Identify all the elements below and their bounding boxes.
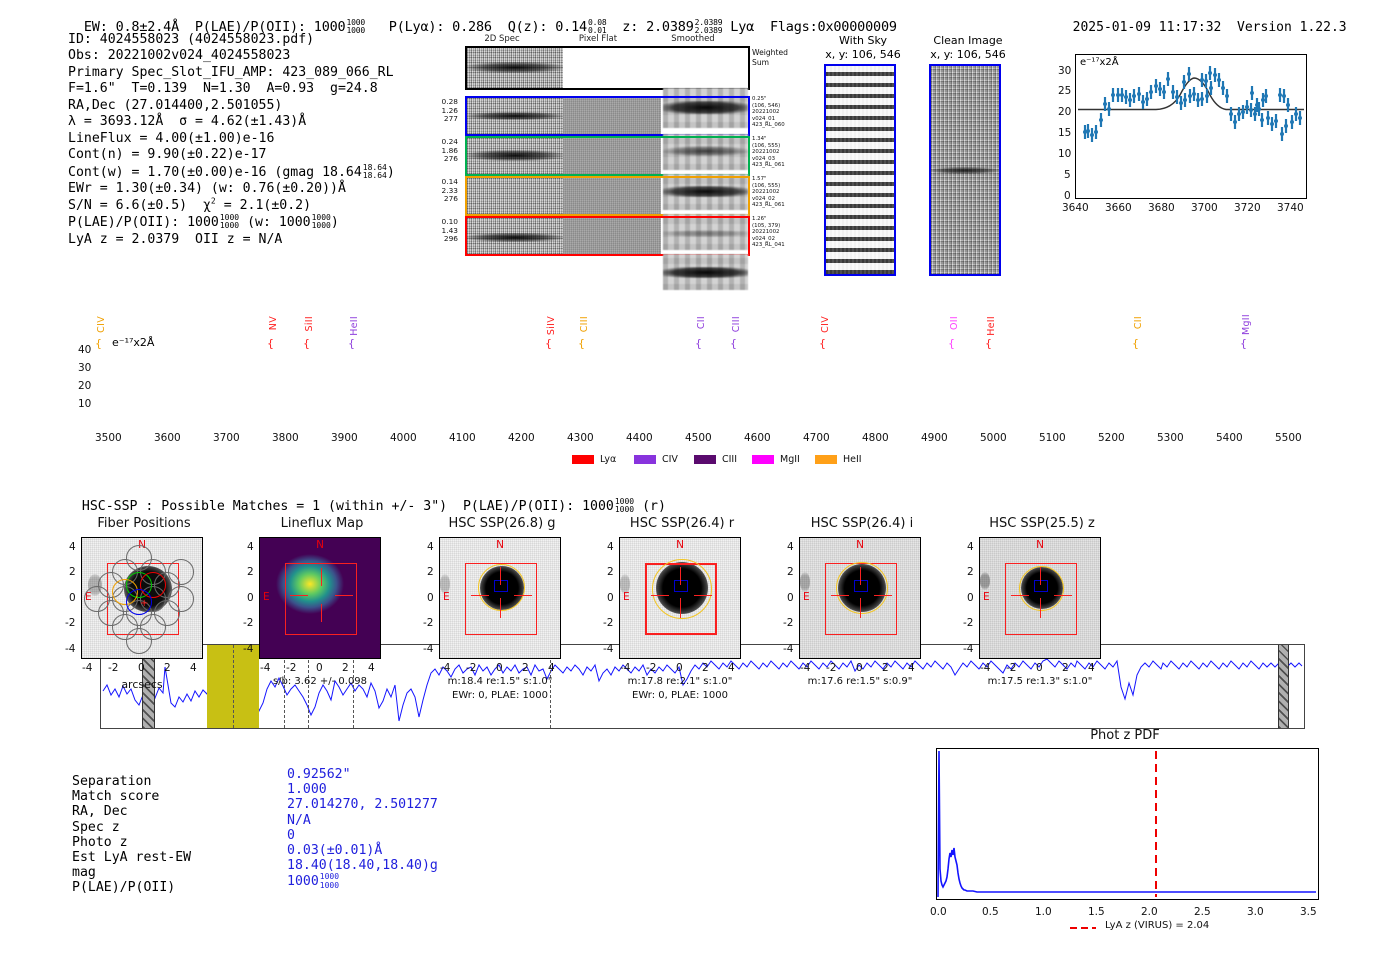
full-spectrum-panel: CIV { NV { SiII { HeII { SiIV { CIII { C… bbox=[0, 300, 1400, 480]
x-tick: 2 bbox=[702, 662, 709, 674]
y-tick: 5 bbox=[1064, 169, 1071, 181]
emission-label-heii-2: HeII bbox=[986, 316, 997, 336]
info-obs: Obs: 20221002v024_4024558023 bbox=[68, 48, 395, 64]
match-table-labels: Separation Match score RA, Dec Spec z Ph… bbox=[72, 774, 191, 896]
compass-e: E bbox=[443, 591, 450, 603]
y-tick: 2 bbox=[607, 566, 614, 578]
info-plae: P(LAE)/P(OII): 100010001000 (w: 10001000… bbox=[68, 214, 395, 232]
cutout-panel-fiber-positions: Fiber Positions N E + 4 2 0 -2 -4 -4 -2 … bbox=[60, 516, 250, 716]
x-tick: -2 bbox=[1006, 662, 1016, 674]
info-radec: RA,Dec (27.014400,2.501055) bbox=[68, 98, 395, 114]
x-tick: -2 bbox=[286, 662, 296, 674]
x-tick: 0 bbox=[316, 662, 323, 674]
legend-swatch-civ bbox=[634, 455, 656, 464]
y-tick: 4 bbox=[69, 541, 76, 553]
emission-label-ciii: CIII bbox=[579, 316, 590, 332]
emission-label-mgii: MgII bbox=[1241, 314, 1252, 335]
exposure-row-left-labels: 0.101.43296 bbox=[428, 218, 458, 244]
emission-bracket: { bbox=[1132, 337, 1139, 350]
row-value: 18.40(18.40,18.40)g bbox=[287, 858, 438, 873]
panel-title: HSC SSP(26.4) r bbox=[598, 516, 766, 531]
y-tick: -4 bbox=[963, 643, 973, 655]
y-tick: -4 bbox=[603, 643, 613, 655]
row-label: Separation bbox=[72, 774, 191, 789]
x-tick: -2 bbox=[646, 662, 656, 674]
x-tick: 2 bbox=[164, 662, 171, 674]
x-tick: 3500 bbox=[95, 432, 122, 444]
exposure-row bbox=[465, 96, 750, 136]
cutout-image: N E bbox=[439, 537, 561, 659]
x-tick: 5100 bbox=[1039, 432, 1066, 444]
emission-bracket: { bbox=[948, 337, 955, 350]
header-z-suffix: Lyα bbox=[730, 19, 754, 35]
y-tick: 4 bbox=[247, 541, 254, 553]
emission-bracket: { bbox=[267, 337, 274, 350]
panel-caption-2: EWr: 0, PLAE: 1000 bbox=[418, 690, 582, 701]
y-tick: 2 bbox=[787, 566, 794, 578]
with-sky-coords: x, y: 106, 546 bbox=[822, 48, 904, 61]
info-seeing-params: F=1.6" T=0.139 N=1.30 A=0.93 g=24.8 bbox=[68, 81, 395, 97]
timestamp: 2025-01-09 11:17:32 bbox=[1073, 20, 1222, 35]
x-tick: 0.0 bbox=[930, 906, 947, 918]
row-value: 0.03(±0.01)Å bbox=[287, 843, 438, 858]
row-label: P(LAE)/P(OII) bbox=[72, 880, 191, 895]
x-tick: 3740 bbox=[1277, 202, 1304, 214]
exposure-row-left-labels: 0.281.26277 bbox=[428, 98, 458, 124]
detection-info-block: ID: 4024558023 (4024558023.pdf) Obs: 202… bbox=[68, 32, 395, 248]
x-tick: -4 bbox=[620, 662, 630, 674]
legend-swatch-lya bbox=[572, 455, 594, 464]
y-tick: 0 bbox=[607, 592, 614, 604]
compass-n: N bbox=[800, 539, 920, 551]
x-tick: -4 bbox=[440, 662, 450, 674]
x-tick: 2 bbox=[342, 662, 349, 674]
info-lya-oii-z: LyA z = 2.0379 OII z = N/A bbox=[68, 232, 395, 248]
info-snr-chi2: S/N = 6.6(±0.5) χ2 = 2.1(±0.2) bbox=[68, 198, 395, 214]
match-table-values: 0.92562" 1.000 27.014270, 2.501277 N/A 0… bbox=[287, 767, 438, 890]
row-label: Est LyA rest-EW bbox=[72, 850, 191, 865]
info-wavelength-sigma: λ = 3693.12Å σ = 4.62(±1.43)Å bbox=[68, 114, 395, 130]
x-tick: 3720 bbox=[1234, 202, 1261, 214]
y-tick: 4 bbox=[427, 541, 434, 553]
emission-label-heii: HeII bbox=[349, 316, 360, 336]
x-tick: -4 bbox=[260, 662, 270, 674]
row-value: 0 bbox=[287, 828, 438, 843]
row-label: mag bbox=[72, 865, 191, 880]
exposure-row-right-labels: 1.34"(106, 555)20221002v024_03423_RL_061 bbox=[752, 136, 802, 169]
panel-title: Fiber Positions bbox=[60, 516, 228, 531]
x-tick: 2.0 bbox=[1141, 906, 1158, 918]
header-summary-line: EW: 0.8±2.4Å P(LAE)/P(OII): 100010001000… bbox=[68, 3, 897, 35]
x-tick: 2 bbox=[522, 662, 529, 674]
info-cont-n: Cont(n) = 9.90(±0.22)e-17 bbox=[68, 147, 395, 163]
info-primary-spec-slot: Primary Spec_Slot_IFU_AMP: 423_089_066_R… bbox=[68, 65, 395, 81]
crosshair-v-bot bbox=[321, 604, 322, 622]
legend-label-mgii: MgII bbox=[780, 454, 800, 465]
exposure-row-right-labels: 0.25"(106, 546)20221002v024_01423_RL_060 bbox=[752, 96, 802, 129]
emission-label-civ: CIV bbox=[96, 316, 107, 333]
row-value: 0.92562" bbox=[287, 767, 438, 782]
crosshair-v-top bbox=[321, 568, 322, 586]
compass-n: N bbox=[620, 539, 740, 551]
exposure-row-left-labels: 0.241.86276 bbox=[428, 138, 458, 164]
y-tick: -4 bbox=[243, 643, 253, 655]
emission-bracket: { bbox=[348, 337, 355, 350]
legend-label-heii: HeII bbox=[843, 454, 862, 465]
photz-axes bbox=[936, 748, 1319, 900]
y-tick: -2 bbox=[243, 617, 253, 629]
x-tick: 3700 bbox=[1191, 202, 1218, 214]
x-tick: 0 bbox=[138, 662, 145, 674]
x-tick: 2 bbox=[1062, 662, 1069, 674]
y-tick: -4 bbox=[423, 643, 433, 655]
y-tick: 2 bbox=[247, 566, 254, 578]
x-axis-label: arcsecs bbox=[81, 678, 203, 691]
x-tick: 4 bbox=[190, 662, 197, 674]
y-tick: 0 bbox=[967, 592, 974, 604]
spectrum-units: e⁻¹⁷x2Å bbox=[112, 336, 154, 349]
weighted-sum-label: Weighted Sum bbox=[752, 48, 788, 67]
x-tick: 0 bbox=[496, 662, 503, 674]
info-lineflux: LineFlux = 4.00(±1.00)e-16 bbox=[68, 131, 395, 147]
legend-label-ciii: CIII bbox=[722, 454, 737, 465]
exposure-row-left-labels: 0.142.33276 bbox=[428, 178, 458, 204]
y-tick: -2 bbox=[423, 617, 433, 629]
crosshair-h-left bbox=[290, 595, 308, 596]
emission-bracket: { bbox=[819, 337, 826, 350]
header-plya: P(Lyα): 0.286 bbox=[389, 19, 492, 35]
header-qz-frac: 0.080.01 bbox=[588, 19, 606, 35]
compass-n: N bbox=[260, 539, 380, 551]
y-tick: 0 bbox=[247, 592, 254, 604]
y-tick: 20 bbox=[1058, 106, 1071, 118]
x-tick: 3660 bbox=[1105, 202, 1132, 214]
cutout-image: N E bbox=[979, 537, 1101, 659]
emission-label-siii: SiII bbox=[304, 316, 315, 331]
weighted-2dspec-cell bbox=[467, 48, 563, 88]
version: Version 1.22.3 bbox=[1237, 20, 1347, 35]
x-tick: -2 bbox=[826, 662, 836, 674]
compass-e: E bbox=[263, 591, 270, 603]
emission-bracket: { bbox=[730, 337, 737, 350]
x-tick: 3600 bbox=[154, 432, 181, 444]
x-tick: 5500 bbox=[1275, 432, 1302, 444]
with-sky-image bbox=[824, 64, 896, 276]
emission-label-ciii-2: CIII bbox=[731, 316, 742, 332]
exposure-row-right-labels: 1.26"(105, 379)20221002v024_02423_RL_041 bbox=[752, 216, 802, 249]
x-tick: 0 bbox=[1036, 662, 1043, 674]
x-tick: 4000 bbox=[390, 432, 417, 444]
y-tick: 10 bbox=[1058, 148, 1071, 160]
x-tick: 4100 bbox=[449, 432, 476, 444]
row-value: N/A bbox=[287, 813, 438, 828]
panel-title: HSC SSP(26.8) g bbox=[418, 516, 586, 531]
x-tick: 3.5 bbox=[1300, 906, 1317, 918]
x-tick: 4800 bbox=[862, 432, 889, 444]
compass-e: E bbox=[803, 591, 810, 603]
y-tick: 30 bbox=[1058, 65, 1071, 77]
header-timestamp-version: 2025-01-09 11:17:32 Version 1.22.3 bbox=[1057, 5, 1347, 35]
masked-band bbox=[1278, 645, 1289, 728]
x-tick: -2 bbox=[108, 662, 118, 674]
y-tick: -4 bbox=[783, 643, 793, 655]
x-tick: 4 bbox=[728, 662, 735, 674]
row-label: RA, Dec bbox=[72, 804, 191, 819]
emission-bracket: { bbox=[95, 337, 102, 350]
header-flags: Flags:0x00000009 bbox=[770, 19, 897, 35]
y-tick: 2 bbox=[967, 566, 974, 578]
panel-caption: m:18.4 re:1.5" s:1.0" bbox=[418, 676, 582, 687]
y-tick: 2 bbox=[69, 566, 76, 578]
cutout-panel-hsc-g: HSC SSP(26.8) g N E 4 2 0 -2 -4 -4 -2 0 … bbox=[418, 516, 608, 721]
x-tick: 5000 bbox=[980, 432, 1007, 444]
y-tick: 10 bbox=[78, 398, 91, 410]
x-tick: 4600 bbox=[744, 432, 771, 444]
emission-bracket: { bbox=[578, 337, 585, 350]
x-tick: 4900 bbox=[921, 432, 948, 444]
photz-legend-label: LyA z (VIRUS) = 2.04 bbox=[1105, 920, 1209, 931]
x-tick: 0.5 bbox=[982, 906, 999, 918]
y-tick: -2 bbox=[65, 617, 75, 629]
emission-bracket: { bbox=[985, 337, 992, 350]
panel-title: Lineflux Map bbox=[238, 516, 406, 531]
line-fit-svg bbox=[1076, 55, 1306, 198]
y-tick: -2 bbox=[963, 617, 973, 629]
panel-caption: s/b: 3.62 +/- 0.098 bbox=[249, 676, 391, 687]
compass-e: E bbox=[983, 591, 990, 603]
emission-bracket: { bbox=[303, 337, 310, 350]
x-tick: 3.0 bbox=[1247, 906, 1264, 918]
y-tick: 40 bbox=[78, 344, 91, 356]
compass-e: E bbox=[623, 591, 630, 603]
exposure-row-right-labels: 1.57"(106, 555)20221002v024_02423_RL_061 bbox=[752, 176, 802, 209]
y-tick: 15 bbox=[1058, 127, 1071, 139]
legend-swatch-heii bbox=[815, 455, 837, 464]
panel-caption: m:17.6 re:1.5" s:0.9" bbox=[778, 676, 942, 687]
x-tick: -2 bbox=[466, 662, 476, 674]
cutout-image: N E bbox=[799, 537, 921, 659]
y-tick: 2 bbox=[427, 566, 434, 578]
header-qz: Q(z): 0.14 bbox=[508, 19, 587, 35]
line-fit-chart: e⁻¹⁷x2Å 30 25 20 15 10 5 0 3640 3660 368… bbox=[1040, 52, 1310, 222]
x-tick: 4 bbox=[1088, 662, 1095, 674]
x-tick: 4 bbox=[368, 662, 375, 674]
compass-n: N bbox=[980, 539, 1100, 551]
col-title-pixelflat: Pixel Flat bbox=[555, 34, 641, 44]
info-ewr: EWr = 1.30(±0.34) (w: 0.76(±0.20))Å bbox=[68, 181, 395, 197]
line-fit-axes bbox=[1075, 54, 1307, 199]
panel-caption: m:17.5 re:1.3" s:1.0" bbox=[958, 676, 1122, 687]
y-tick: 4 bbox=[607, 541, 614, 553]
header-z: z: 2.0389 bbox=[622, 19, 693, 35]
weighted-pixelflat-cell bbox=[563, 48, 661, 88]
cutout-image: N E bbox=[619, 537, 741, 659]
clean-image-title: Clean Image bbox=[925, 34, 1011, 47]
x-tick: 4200 bbox=[508, 432, 535, 444]
emission-label-oii: OII bbox=[949, 316, 960, 330]
emission-bracket: { bbox=[1240, 337, 1247, 350]
line-fit-units: e⁻¹⁷x2Å bbox=[1080, 57, 1119, 68]
x-tick: 2 bbox=[882, 662, 889, 674]
row-value: 27.014270, 2.501277 bbox=[287, 797, 438, 812]
emission-bracket: { bbox=[545, 337, 552, 350]
header-z-frac: 2.03892.0389 bbox=[695, 19, 723, 35]
with-sky-title: With Sky bbox=[822, 34, 904, 47]
legend-label-lya: Lyα bbox=[600, 454, 616, 465]
x-tick: 4300 bbox=[567, 432, 594, 444]
panel-caption-2: EWr: 0, PLAE: 1000 bbox=[598, 690, 762, 701]
x-tick: -4 bbox=[82, 662, 92, 674]
x-tick: 4500 bbox=[685, 432, 712, 444]
y-tick: 0 bbox=[69, 592, 76, 604]
x-tick: 1.0 bbox=[1035, 906, 1052, 918]
emission-label-cii-2: CII bbox=[1133, 316, 1144, 329]
emission-label-siiv: SiIV bbox=[546, 316, 557, 335]
y-tick: 30 bbox=[78, 362, 91, 374]
hsc-header: HSC-SSP : Possible Matches = 1 (within +… bbox=[66, 483, 666, 514]
crosshair-h-right bbox=[335, 595, 353, 596]
cutout-image: N E bbox=[259, 537, 381, 659]
2d-spec-panel: 2D Spec Pixel Flat Smoothed Weighted Sum… bbox=[462, 34, 762, 256]
x-tick: 0 bbox=[856, 662, 863, 674]
y-tick: 4 bbox=[967, 541, 974, 553]
y-tick: -2 bbox=[783, 617, 793, 629]
y-tick: -2 bbox=[603, 617, 613, 629]
col-title-2dspec: 2D Spec bbox=[462, 34, 542, 44]
x-tick: 4400 bbox=[626, 432, 653, 444]
exposure-row bbox=[465, 176, 750, 216]
panel-caption: m:17.8 re:2.1" s:1.0" bbox=[598, 676, 762, 687]
panel-title: HSC SSP(26.4) i bbox=[778, 516, 946, 531]
weighted-sum-row bbox=[465, 46, 750, 90]
info-cont-w: Cont(w) = 1.70(±0.00)e-16 (gmag 18.6418.… bbox=[68, 164, 395, 182]
photz-title: Phot z PDF bbox=[930, 728, 1320, 743]
y-tick: 20 bbox=[78, 380, 91, 392]
legend-label-civ: CIV bbox=[662, 454, 678, 465]
y-tick: 25 bbox=[1058, 85, 1071, 97]
x-tick: 0 bbox=[676, 662, 683, 674]
x-tick: 1.5 bbox=[1088, 906, 1105, 918]
exposure-row bbox=[465, 136, 750, 176]
y-tick: 4 bbox=[787, 541, 794, 553]
row-label: Photo z bbox=[72, 835, 191, 850]
photz-trace bbox=[937, 749, 1318, 899]
photz-pdf-panel: Phot z PDF 0.0 0.5 1.0 1.5 2.0 2.5 3.0 3… bbox=[930, 728, 1330, 943]
y-tick: 0 bbox=[1064, 190, 1071, 202]
x-tick: 3700 bbox=[213, 432, 240, 444]
y-tick: -4 bbox=[65, 643, 75, 655]
x-tick: 4 bbox=[908, 662, 915, 674]
x-tick: 5300 bbox=[1157, 432, 1184, 444]
clean-image-coords: x, y: 106, 546 bbox=[925, 48, 1011, 61]
cutout-panel-hsc-i: HSC SSP(26.4) i N E 4 2 0 -2 -4 -4 -2 0 … bbox=[778, 516, 968, 721]
row-label: Match score bbox=[72, 789, 191, 804]
row-value-plae: 100010001000 bbox=[287, 873, 438, 889]
x-tick: 3800 bbox=[272, 432, 299, 444]
y-tick: 0 bbox=[787, 592, 794, 604]
x-tick: 5400 bbox=[1216, 432, 1243, 444]
emission-label-civ-2: CIV bbox=[820, 316, 831, 333]
cutout-panel-hsc-r: HSC SSP(26.4) r N E 4 2 0 -2 -4 -4 -2 0 … bbox=[598, 516, 788, 721]
cutout-panel-hsc-z: HSC SSP(25.5) z N E 4 2 0 -2 -4 -4 -2 0 … bbox=[958, 516, 1148, 721]
photz-legend-swatch bbox=[1070, 923, 1098, 933]
info-id: ID: 4024558023 (4024558023.pdf) bbox=[68, 32, 395, 48]
y-tick: 0 bbox=[427, 592, 434, 604]
cutout-image: N E + bbox=[81, 537, 203, 659]
x-tick: 5200 bbox=[1098, 432, 1125, 444]
panel-title: HSC SSP(25.5) z bbox=[958, 516, 1126, 531]
x-tick: -4 bbox=[980, 662, 990, 674]
row-value: 1.000 bbox=[287, 782, 438, 797]
compass-n: N bbox=[440, 539, 560, 551]
emission-label-nv: NV bbox=[268, 316, 279, 330]
legend-swatch-mgii bbox=[752, 455, 774, 464]
x-tick: 3680 bbox=[1148, 202, 1175, 214]
cutout-panel-lineflux-map: Lineflux Map N E 4 2 0 -2 -4 -4 -2 0 2 4… bbox=[238, 516, 428, 716]
clean-image-image bbox=[929, 64, 1001, 276]
x-tick: 2.5 bbox=[1194, 906, 1211, 918]
emission-label-cii: CII bbox=[696, 316, 707, 329]
x-tick: -4 bbox=[800, 662, 810, 674]
legend-swatch-ciii bbox=[694, 455, 716, 464]
row-label: Spec z bbox=[72, 820, 191, 835]
exposure-row bbox=[465, 216, 750, 256]
col-title-smoothed: Smoothed bbox=[650, 34, 736, 44]
x-tick: 3640 bbox=[1062, 202, 1089, 214]
emission-bracket: { bbox=[695, 337, 702, 350]
x-tick: 4700 bbox=[803, 432, 830, 444]
x-tick: 4 bbox=[548, 662, 555, 674]
x-tick: 3900 bbox=[331, 432, 358, 444]
